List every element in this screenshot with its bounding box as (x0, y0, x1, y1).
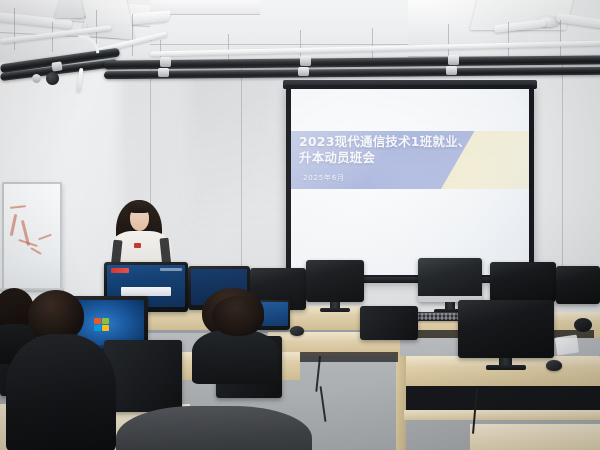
classroom-photo: 2023现代通信技术1班就业、 升本动员班会 2025年6月 (0, 0, 600, 450)
fan-blade (81, 0, 135, 40)
login-dialog[interactable] (121, 287, 171, 296)
projector-screen-surface: 2023现代通信技术1班就业、 升本动员班会 2025年6月 (291, 89, 529, 275)
foreground-monitor-right (360, 306, 418, 340)
presentation-slide: 2023现代通信技术1班就业、 升本动员班会 2025年6月 (291, 89, 529, 275)
presenter-badge (134, 243, 141, 248)
back-monitor-a (490, 262, 556, 302)
desk-right-lower-shelf (404, 410, 600, 420)
pipe-hanger (132, 14, 133, 56)
pipe-hanger (14, 8, 15, 50)
desk-object-dark (574, 318, 592, 332)
monitor-panel (490, 262, 556, 302)
back-monitor-imac (418, 258, 482, 302)
wall-seam (241, 40, 242, 295)
student-monitor-center2 (306, 260, 364, 302)
monitor-back-panel (360, 306, 418, 340)
monitor-topbar (160, 268, 182, 271)
presenter-fringe (128, 202, 151, 213)
pipe-collar (448, 55, 459, 65)
whiteboard (2, 182, 62, 292)
student-1 (14, 290, 110, 450)
pipe-collar (300, 56, 311, 66)
pipe-collar (158, 68, 169, 77)
monitor-panel (306, 260, 364, 302)
pipe-collar (160, 57, 171, 67)
paper-sheet (555, 335, 579, 356)
slide-title-line2: 升本动员班会 (299, 150, 515, 166)
student-torso (116, 406, 312, 450)
keyboard-back (412, 312, 460, 321)
whiteboard-marking (10, 205, 26, 209)
desk-foreground-right (470, 424, 600, 450)
student-hair (212, 296, 264, 336)
monitor-base (486, 365, 526, 370)
monitor-panel (458, 300, 554, 358)
slide-title: 2023现代通信技术1班就业、 升本动员班会 (299, 134, 515, 166)
student-monitor-right (458, 300, 554, 358)
whiteboard-marking (38, 234, 52, 241)
student-torso (6, 334, 116, 450)
whiteboard-marking (30, 247, 41, 255)
pipe-collar (298, 67, 309, 76)
monitor-panel (418, 258, 482, 302)
ceiling-edge (150, 44, 408, 45)
whiteboard-marking (10, 214, 18, 236)
desk-right-undershelf (402, 386, 600, 412)
pipe-collar (446, 66, 457, 75)
back-monitor-b (556, 266, 600, 304)
wall-seam (562, 62, 563, 292)
student-4 (206, 296, 270, 350)
conduit-fitting (32, 74, 41, 83)
keyboard-keys (413, 313, 459, 320)
ceiling-fan-right (470, 0, 600, 46)
slide-title-line1: 2023现代通信技术1班就业、 (299, 134, 515, 150)
monitor-panel (556, 266, 600, 304)
slide-date: 2025年6月 (303, 173, 345, 183)
mouse-right (546, 360, 562, 371)
desk-right-leg (396, 356, 406, 450)
monitor-base (320, 308, 350, 312)
conduit-fitting (46, 72, 59, 85)
monitor-logo (111, 268, 129, 273)
